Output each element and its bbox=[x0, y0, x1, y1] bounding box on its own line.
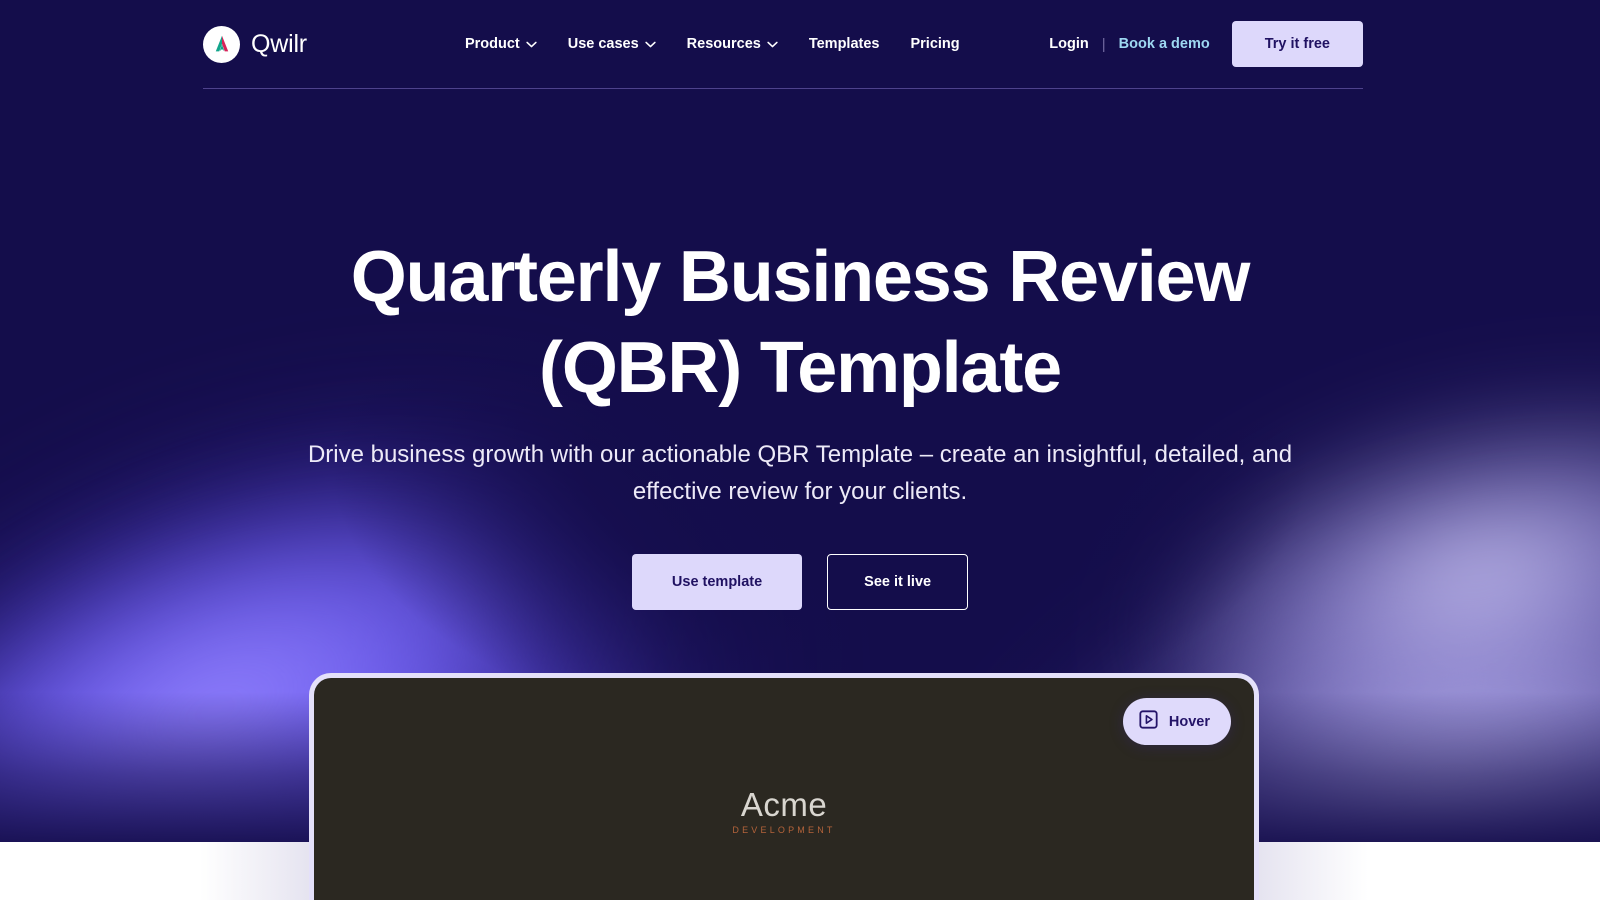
nav-links: Product Use cases Resources Templates Pr… bbox=[465, 36, 960, 52]
hover-badge-label: Hover bbox=[1169, 714, 1210, 730]
top-navigation-bar: Qwilr Product Use cases Resources Templa… bbox=[203, 0, 1363, 88]
acme-logo: Acme DEVELOPMENT bbox=[314, 786, 1254, 835]
preview-card[interactable]: Hover Acme DEVELOPMENT bbox=[309, 673, 1259, 900]
nav-item-resources-label: Resources bbox=[687, 36, 761, 52]
template-preview: Hover Acme DEVELOPMENT bbox=[309, 673, 1259, 900]
nav-item-pricing-label: Pricing bbox=[910, 36, 959, 52]
nav-item-templates[interactable]: Templates bbox=[809, 36, 880, 52]
hero-cta-group: Use template See it live bbox=[0, 554, 1600, 610]
nav-item-pricing[interactable]: Pricing bbox=[910, 36, 959, 52]
use-template-button[interactable]: Use template bbox=[632, 554, 802, 610]
nav-item-resources[interactable]: Resources bbox=[687, 36, 778, 52]
nav-item-product-label: Product bbox=[465, 36, 520, 52]
chevron-down-icon bbox=[767, 41, 778, 48]
page-subtitle: Drive business growth with our actionabl… bbox=[305, 436, 1295, 510]
chevron-down-icon bbox=[645, 41, 656, 48]
login-link[interactable]: Login bbox=[1049, 36, 1088, 52]
play-square-icon bbox=[1139, 710, 1158, 733]
page-title-line-2: (QBR) Template bbox=[539, 328, 1061, 408]
page-title-line-1: Quarterly Business Review bbox=[351, 237, 1249, 317]
try-it-free-button[interactable]: Try it free bbox=[1232, 21, 1363, 67]
nav-item-use-cases-label: Use cases bbox=[568, 36, 639, 52]
acme-company-name: Acme bbox=[314, 786, 1254, 824]
nav-item-use-cases[interactable]: Use cases bbox=[568, 36, 656, 52]
chevron-down-icon bbox=[526, 41, 537, 48]
nav-item-templates-label: Templates bbox=[809, 36, 880, 52]
brand-name: Qwilr bbox=[251, 30, 307, 59]
nav-actions: Login | Book a demo Try it free bbox=[1049, 21, 1363, 67]
page-subtitle-line-1: Drive business growth with our actionabl… bbox=[308, 441, 1148, 468]
nav-item-product[interactable]: Product bbox=[465, 36, 537, 52]
page-title: Quarterly Business Review (QBR) Template bbox=[0, 232, 1600, 414]
nav-separator: | bbox=[1102, 36, 1106, 53]
navbar-divider bbox=[203, 88, 1363, 89]
qwilr-logo-icon bbox=[203, 26, 240, 63]
fold-shadow-left bbox=[200, 842, 312, 900]
acme-company-tagline: DEVELOPMENT bbox=[314, 825, 1254, 835]
hero-content: Quarterly Business Review (QBR) Template… bbox=[0, 0, 1600, 610]
brand-logo[interactable]: Qwilr bbox=[203, 26, 307, 63]
see-it-live-button[interactable]: See it live bbox=[827, 554, 968, 610]
fold-shadow-right bbox=[1256, 842, 1368, 900]
book-a-demo-link[interactable]: Book a demo bbox=[1119, 36, 1210, 52]
hover-badge[interactable]: Hover bbox=[1123, 698, 1231, 745]
